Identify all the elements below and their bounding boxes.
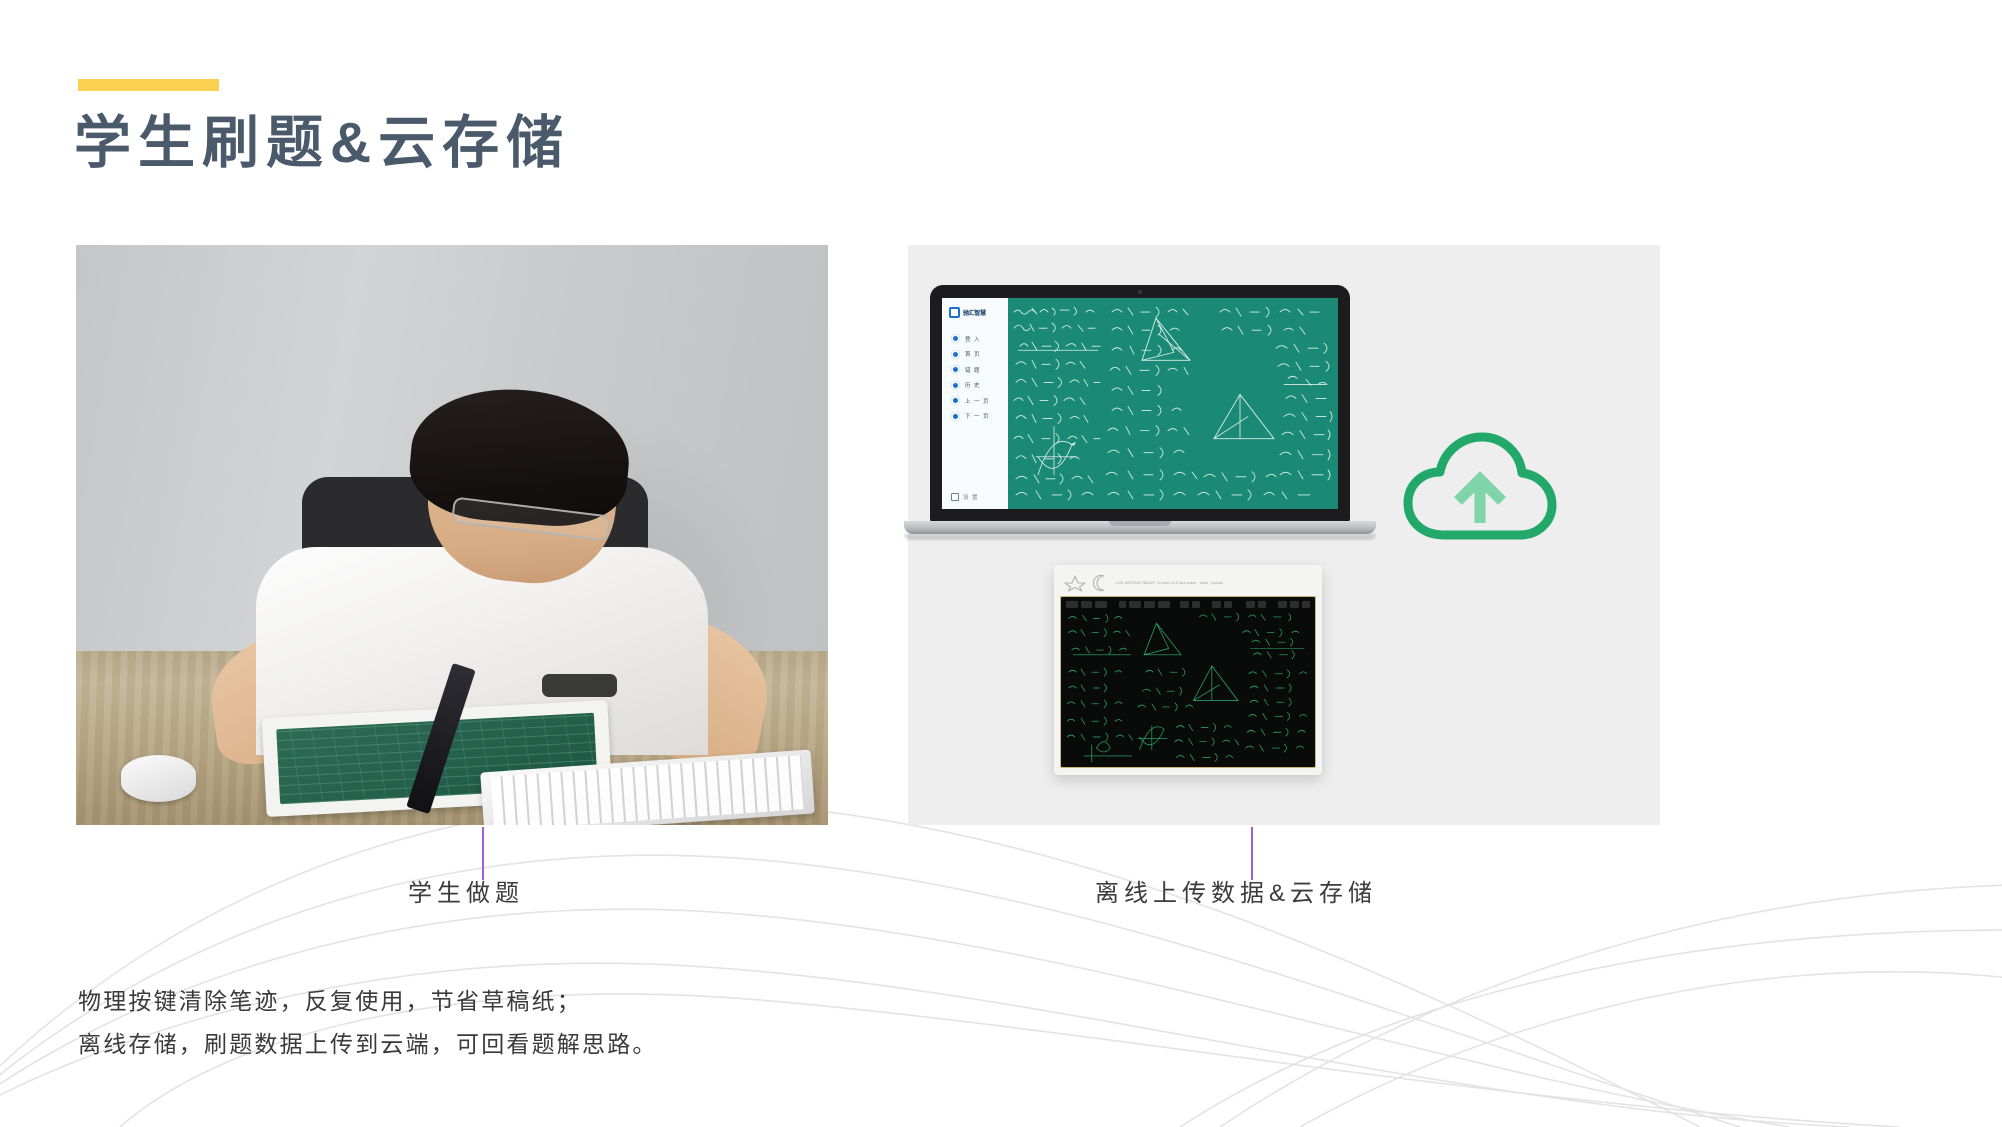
upload-arrow-icon [1458, 479, 1502, 523]
app-logo: 驰汇智慧 [942, 307, 1008, 318]
app-sidebar: 驰汇智慧 登 入 首 页 错 题 [942, 298, 1008, 509]
tablet-key[interactable] [1119, 601, 1126, 608]
tablet-top-label-row: LCD WRITING TABLET 10 inch / 8.5 inch er… [1059, 570, 1317, 596]
tablet-key[interactable] [1081, 601, 1093, 608]
laptop-lid: 驰汇智慧 登 入 首 页 错 题 [930, 285, 1350, 523]
device-illustration: 驰汇智慧 登 入 首 页 错 题 [908, 245, 1660, 825]
star-icon [1064, 574, 1086, 592]
tablet-key[interactable] [1246, 601, 1255, 608]
bullet-icon [951, 334, 960, 343]
sidebar-item-home[interactable]: 首 页 [942, 350, 1008, 359]
tablet-key[interactable] [1212, 601, 1221, 608]
bullet-icon [951, 396, 960, 405]
sidebar-item-label: 首 页 [965, 350, 981, 358]
bullet-icon [951, 350, 960, 359]
sidebar-item-label: 历 史 [965, 381, 981, 389]
tablet-key[interactable] [1180, 601, 1189, 608]
tablet-handwritten-equations [1061, 609, 1315, 767]
photo-computer-mouse [121, 755, 196, 801]
tablet-key[interactable] [1066, 601, 1078, 608]
caption-student-photo: 学生做题 [408, 873, 524, 908]
sidebar-item-label: 设 置 [963, 493, 979, 501]
sidebar-item-label: 错 题 [965, 366, 981, 374]
cloud-upload-icon [1400, 423, 1560, 553]
gear-icon [951, 493, 959, 501]
tablet-key[interactable] [1290, 601, 1299, 608]
blackboard-canvas[interactable] [1008, 298, 1338, 509]
sidebar-item-label: 上 一 页 [965, 397, 990, 405]
tablet-key[interactable] [1192, 601, 1201, 608]
body-copy-line-2: 离线存储，刷题数据上传到云端，可回看题解思路。 [78, 1023, 658, 1066]
page-title: 学生刷题&云存储 [74, 110, 570, 177]
sidebar-item-label: 下 一 页 [965, 412, 990, 420]
laptop-webcam-icon [1138, 290, 1142, 294]
tablet-key[interactable] [1144, 601, 1156, 608]
caption-device-illustration: 离线上传数据&云存储 [1095, 873, 1377, 908]
title-accent-bar [78, 79, 219, 91]
tablet-key[interactable] [1278, 601, 1287, 608]
tablet-key[interactable] [1224, 601, 1233, 608]
sidebar-item-login[interactable]: 登 入 [942, 334, 1008, 343]
sidebar-item-settings[interactable]: 设 置 [942, 493, 1008, 501]
student-photo [76, 245, 828, 825]
bullet-icon [951, 365, 960, 374]
tablet-badges [1064, 574, 1110, 592]
laptop-screen: 驰汇智慧 登 入 首 页 错 题 [942, 298, 1338, 509]
sidebar-item-prev-page[interactable]: 上 一 页 [942, 396, 1008, 405]
body-copy-line-1: 物理按键清除笔迹，反复使用，节省草稿纸； [78, 980, 658, 1023]
sidebar-item-history[interactable]: 历 史 [942, 381, 1008, 390]
bullet-icon [951, 381, 960, 390]
body-copy: 物理按键清除笔迹，反复使用，节省草稿纸； 离线存储，刷题数据上传到云端，可回看题… [78, 980, 658, 1065]
laptop-device: 驰汇智慧 登 入 首 页 错 题 [930, 285, 1350, 550]
app-logo-mark-icon [949, 307, 960, 318]
tablet-key[interactable] [1258, 601, 1267, 608]
tablet-key[interactable] [1129, 601, 1141, 608]
tablet-key[interactable] [1095, 601, 1107, 608]
moon-icon [1090, 574, 1110, 592]
tablet-key[interactable] [1158, 601, 1170, 608]
writing-tablet-device: LCD WRITING TABLET 10 inch / 8.5 inch er… [1054, 565, 1322, 775]
sidebar-item-wrong-questions[interactable]: 错 题 [942, 365, 1008, 374]
tablet-key[interactable] [1302, 601, 1311, 608]
sidebar-item-next-page[interactable]: 下 一 页 [942, 412, 1008, 421]
sidebar-item-label: 登 入 [965, 335, 981, 343]
tablet-spec-text: LCD WRITING TABLET 10 inch / 8.5 inch er… [1116, 581, 1223, 586]
laptop-base [904, 521, 1376, 534]
handwritten-equations [1008, 298, 1338, 509]
app-nav-list: 登 入 首 页 错 题 历 史 [942, 334, 1008, 421]
tablet-screen[interactable] [1060, 596, 1316, 768]
laptop-base-shadow [904, 534, 1376, 540]
app-logo-label: 驰汇智慧 [963, 308, 986, 317]
photo-shirt-logo [542, 674, 617, 697]
bullet-icon [951, 412, 960, 421]
